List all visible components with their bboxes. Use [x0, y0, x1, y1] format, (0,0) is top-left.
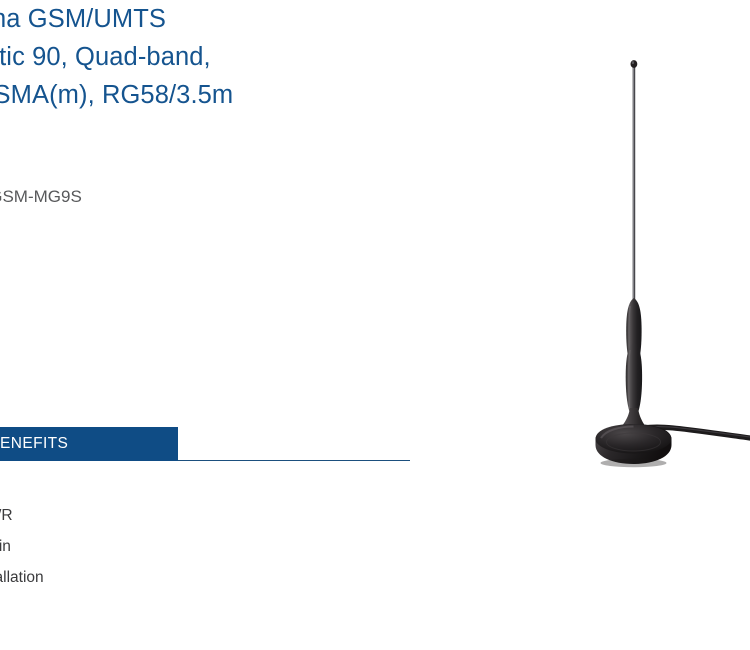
product-title-line-2: agnetic 90, Quad-band, [0, 38, 462, 76]
list-item: High Gain [0, 531, 342, 562]
benefits-heading-label: ENEFITS [0, 427, 68, 461]
list-item: ow VSWR [0, 500, 342, 531]
list-item: asy installation [0, 562, 342, 593]
page-title: ntenna GSM/UMTS agnetic 90, Quad-band, d… [0, 0, 462, 114]
product-datasheet-page: ntenna GSM/UMTS agnetic 90, Quad-band, d… [0, 0, 750, 650]
product-title-line-1: ntenna GSM/UMTS [0, 0, 462, 38]
antenna-tip [631, 60, 638, 68]
benefits-section-header: ENEFITS [0, 427, 412, 461]
product-code: -AO-AGSM-MG9S [0, 186, 82, 208]
benefits-heading-rule [178, 460, 410, 461]
antenna-whip-upper [633, 65, 636, 305]
product-title-line-3: dBi, SMA(m), RG58/3.5m [0, 76, 462, 114]
product-info-column: ntenna GSM/UMTS agnetic 90, Quad-band, d… [0, 0, 462, 114]
product-image-antenna [560, 40, 750, 470]
antenna-base-shadow [601, 459, 667, 467]
antenna-base-top [596, 425, 672, 454]
benefits-list: ow VSWR High Gain asy installation [0, 500, 342, 593]
